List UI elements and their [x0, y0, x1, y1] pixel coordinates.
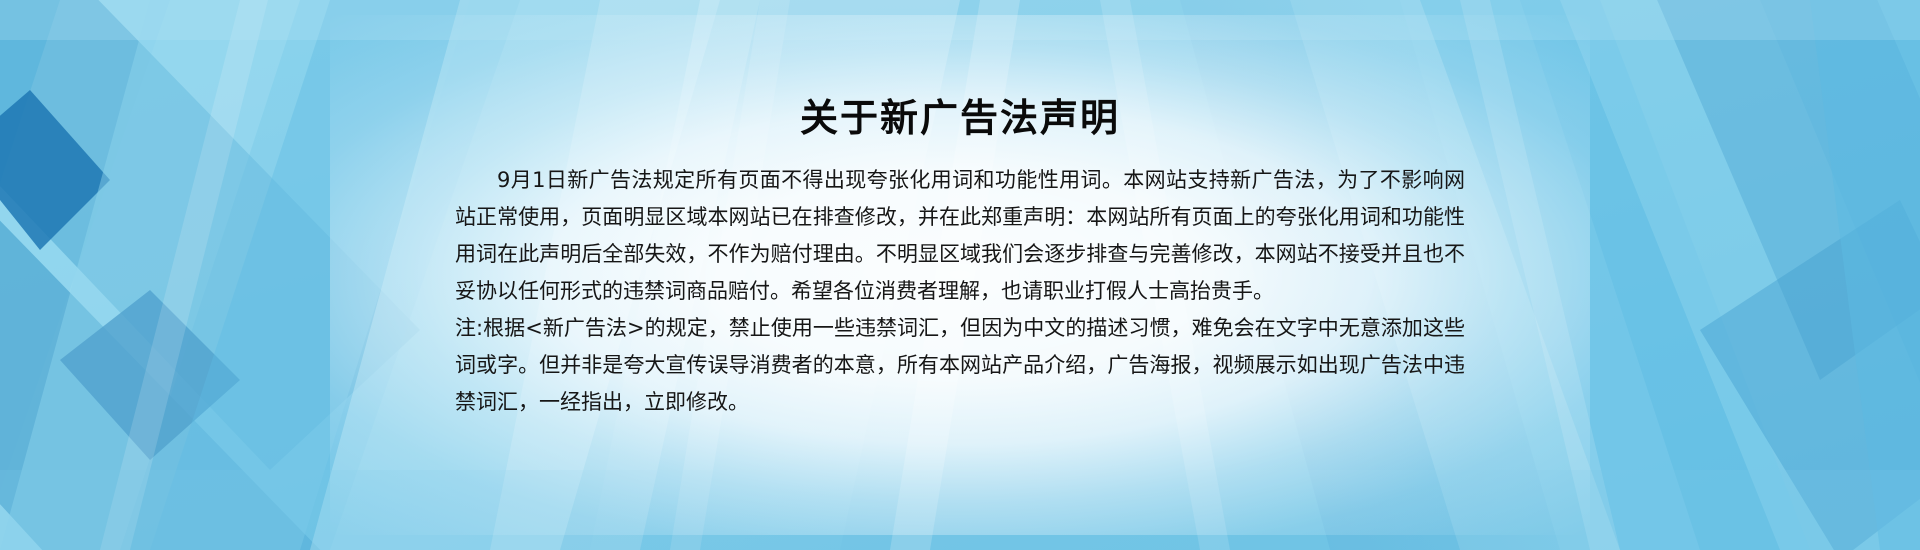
- statement-content: 关于新广告法声明 9月1日新广告法规定所有页面不得出现夸张化用词和功能性用词。本…: [455, 0, 1465, 550]
- statement-paragraph-main: 9月1日新广告法规定所有页面不得出现夸张化用词和功能性用词。本网站支持新广告法，…: [455, 162, 1465, 310]
- page-title: 关于新广告法声明: [455, 96, 1465, 140]
- advertising-law-statement-banner: 关于新广告法声明 9月1日新广告法规定所有页面不得出现夸张化用词和功能性用词。本…: [0, 0, 1920, 550]
- statement-paragraph-note: 注:根据<新广告法>的规定，禁止使用一些违禁词汇，但因为中文的描述习惯，难免会在…: [455, 310, 1465, 421]
- statement-body: 9月1日新广告法规定所有页面不得出现夸张化用词和功能性用词。本网站支持新广告法，…: [455, 162, 1465, 421]
